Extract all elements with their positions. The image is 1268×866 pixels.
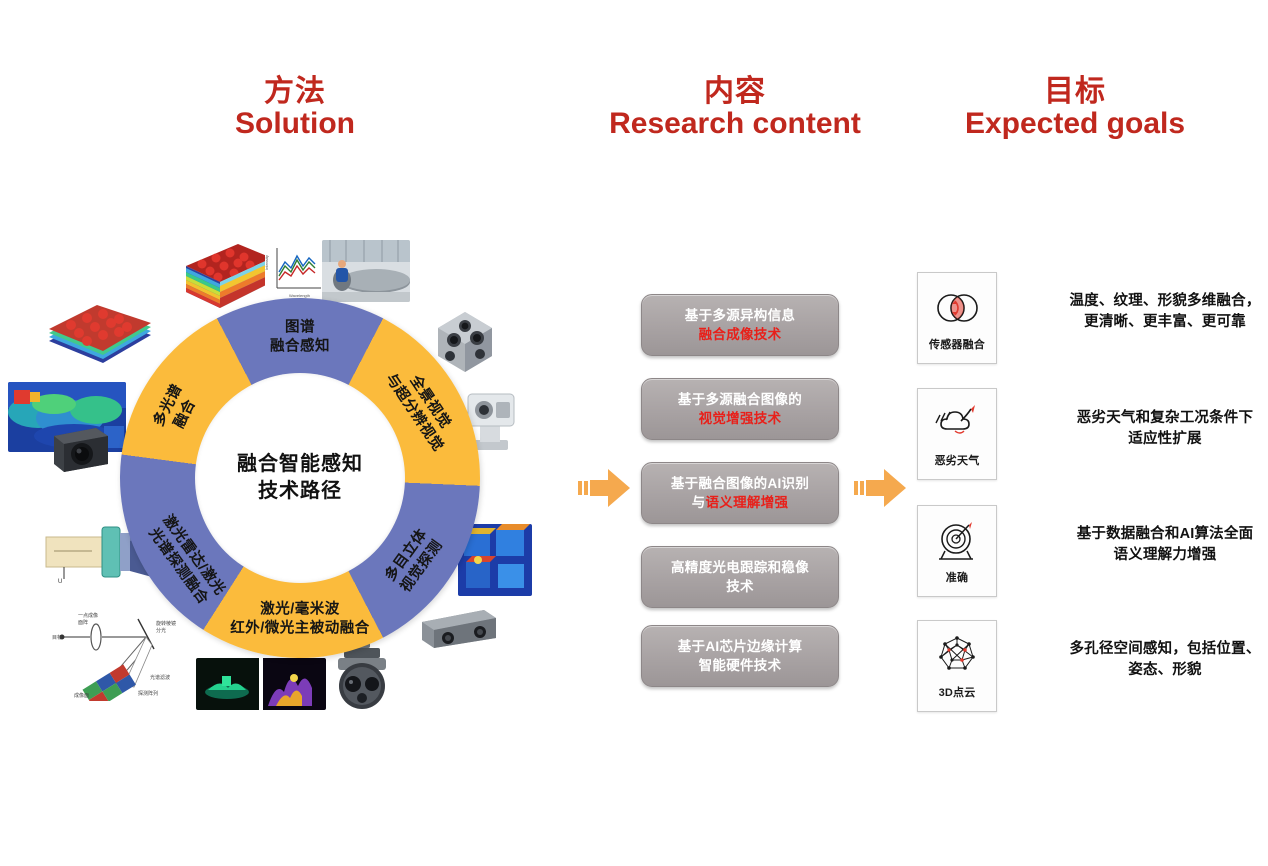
research-box-tracking-stab[interactable]: 高精度光电跟踪和稳像 技术 xyxy=(641,546,839,608)
arrow-content-to-goals xyxy=(854,462,908,514)
goal-3-line1: 基于数据融合和AI算法全面 xyxy=(1030,524,1268,545)
technology-wheel: 融合智能感知 技术路径 图谱 融合感知 全景视觉 与超分辨视觉 多目立体 视觉探… xyxy=(120,298,480,658)
target-dart-icon xyxy=(931,518,983,564)
goal-text-bad-weather: 恶劣天气和复杂工况条件下 适应性扩展 xyxy=(1030,408,1268,450)
goal-2-line1: 恶劣天气和复杂工况条件下 xyxy=(1030,408,1268,429)
research-box-4-line1: 高精度光电跟踪和稳像 xyxy=(671,560,809,575)
research-box-3-prefix: 与 xyxy=(692,495,706,510)
svg-text:面阵: 面阵 xyxy=(78,619,88,626)
goal-text-accuracy: 基于数据融合和AI算法全面 语义理解力增强 xyxy=(1030,524,1268,566)
wheel-center-label: 融合智能感知 技术路径 xyxy=(195,373,405,583)
svg-text:目标: 目标 xyxy=(52,634,62,641)
research-box-fusion-imaging[interactable]: 基于多源异构信息 融合成像技术 xyxy=(641,294,839,356)
goal-card-3-caption: 准确 xyxy=(946,569,968,585)
header-goals-cn: 目标 xyxy=(940,76,1210,108)
research-box-ai-semantic[interactable]: 基于融合图像的AI识别 与语义理解增强 xyxy=(641,462,839,524)
research-box-2-line2: 视觉增强技术 xyxy=(699,411,782,426)
goal-card-point-cloud[interactable]: 3D点云 xyxy=(917,620,997,712)
svg-text:一点成像: 一点成像 xyxy=(78,612,98,619)
goal-card-bad-weather[interactable]: 恶劣天气 xyxy=(917,388,997,480)
header-content-cn: 内容 xyxy=(600,76,870,108)
research-box-5-line1: 基于AI芯片边缘计算 xyxy=(678,639,803,654)
research-box-3-line1: 基于融合图像的AI识别 xyxy=(671,476,809,491)
column-header-content: 内容 Research content xyxy=(600,76,870,141)
column-header-solution: 方法 Solution xyxy=(175,76,415,141)
goal-1-line2: 更清晰、更丰富、更可靠 xyxy=(1030,312,1268,333)
thumbnail-pipeline-inspection xyxy=(322,240,410,302)
research-box-1-line1: 基于多源异构信息 xyxy=(685,308,795,323)
goal-card-sensor-fusion[interactable]: 传感器融合 xyxy=(917,272,997,364)
wheel-center-line2: 技术路径 xyxy=(258,478,342,505)
goal-3-line2: 语义理解力增强 xyxy=(1030,545,1268,566)
svg-text:U: U xyxy=(58,579,62,585)
research-box-visual-enhance[interactable]: 基于多源融合图像的 视觉增强技术 xyxy=(641,378,839,440)
goal-card-2-caption: 恶劣天气 xyxy=(935,452,980,468)
svg-text:成像面: 成像面 xyxy=(74,692,89,699)
research-box-ai-chip-edge[interactable]: 基于AI芯片边缘计算 智能硬件技术 xyxy=(641,625,839,687)
header-solution-en: Solution xyxy=(175,108,415,140)
goal-text-sensor-fusion: 温度、纹理、形貌多维融合， 更清晰、更丰富、更可靠 xyxy=(1030,291,1268,333)
header-content-en: Research content xyxy=(600,108,870,140)
goal-2-line2: 适应性扩展 xyxy=(1030,429,1268,450)
research-box-3-line2: 语义理解增强 xyxy=(706,495,789,510)
goal-4-line1: 多孔径空间感知，包括位置、 xyxy=(1030,639,1268,660)
header-goals-en: Expected goals xyxy=(940,108,1210,140)
wheel-center-line1: 融合智能感知 xyxy=(237,451,363,478)
thumbnail-thermal-camera xyxy=(48,420,114,476)
goal-1-line1: 温度、纹理、形貌多维融合， xyxy=(1030,291,1268,312)
research-box-4-line2: 技术 xyxy=(726,579,754,594)
research-box-2-line1: 基于多源融合图像的 xyxy=(678,392,802,407)
research-box-1-line2: 融合成像技术 xyxy=(699,327,782,342)
goal-4-line2: 姿态、形貌 xyxy=(1030,660,1268,681)
rain-cloud-icon xyxy=(931,401,983,447)
diagram-canvas: 方法 Solution 内容 Research content 目标 Expec… xyxy=(0,0,1268,866)
venn-circles-icon xyxy=(931,285,983,331)
svg-text:光谱滤波: 光谱滤波 xyxy=(150,674,170,681)
research-box-5-line2: 智能硬件技术 xyxy=(699,658,782,673)
header-solution-cn: 方法 xyxy=(175,76,415,108)
goal-card-4-caption: 3D点云 xyxy=(939,684,976,700)
point-cloud-icon xyxy=(931,633,983,679)
svg-text:Intensity: Intensity xyxy=(265,255,269,270)
column-header-goals: 目标 Expected goals xyxy=(940,76,1210,141)
svg-text:探测阵列: 探测阵列 xyxy=(138,690,158,697)
thumbnail-spectrum-plot: Intensity Wavelength xyxy=(265,240,327,302)
thumbnail-night-vision-pair xyxy=(196,658,326,710)
goal-text-point-cloud: 多孔径空间感知，包括位置、 姿态、形貌 xyxy=(1030,639,1268,681)
goal-card-accuracy[interactable]: 准确 xyxy=(917,505,997,597)
goal-card-1-caption: 传感器融合 xyxy=(929,336,985,352)
arrow-method-to-content xyxy=(578,462,632,514)
